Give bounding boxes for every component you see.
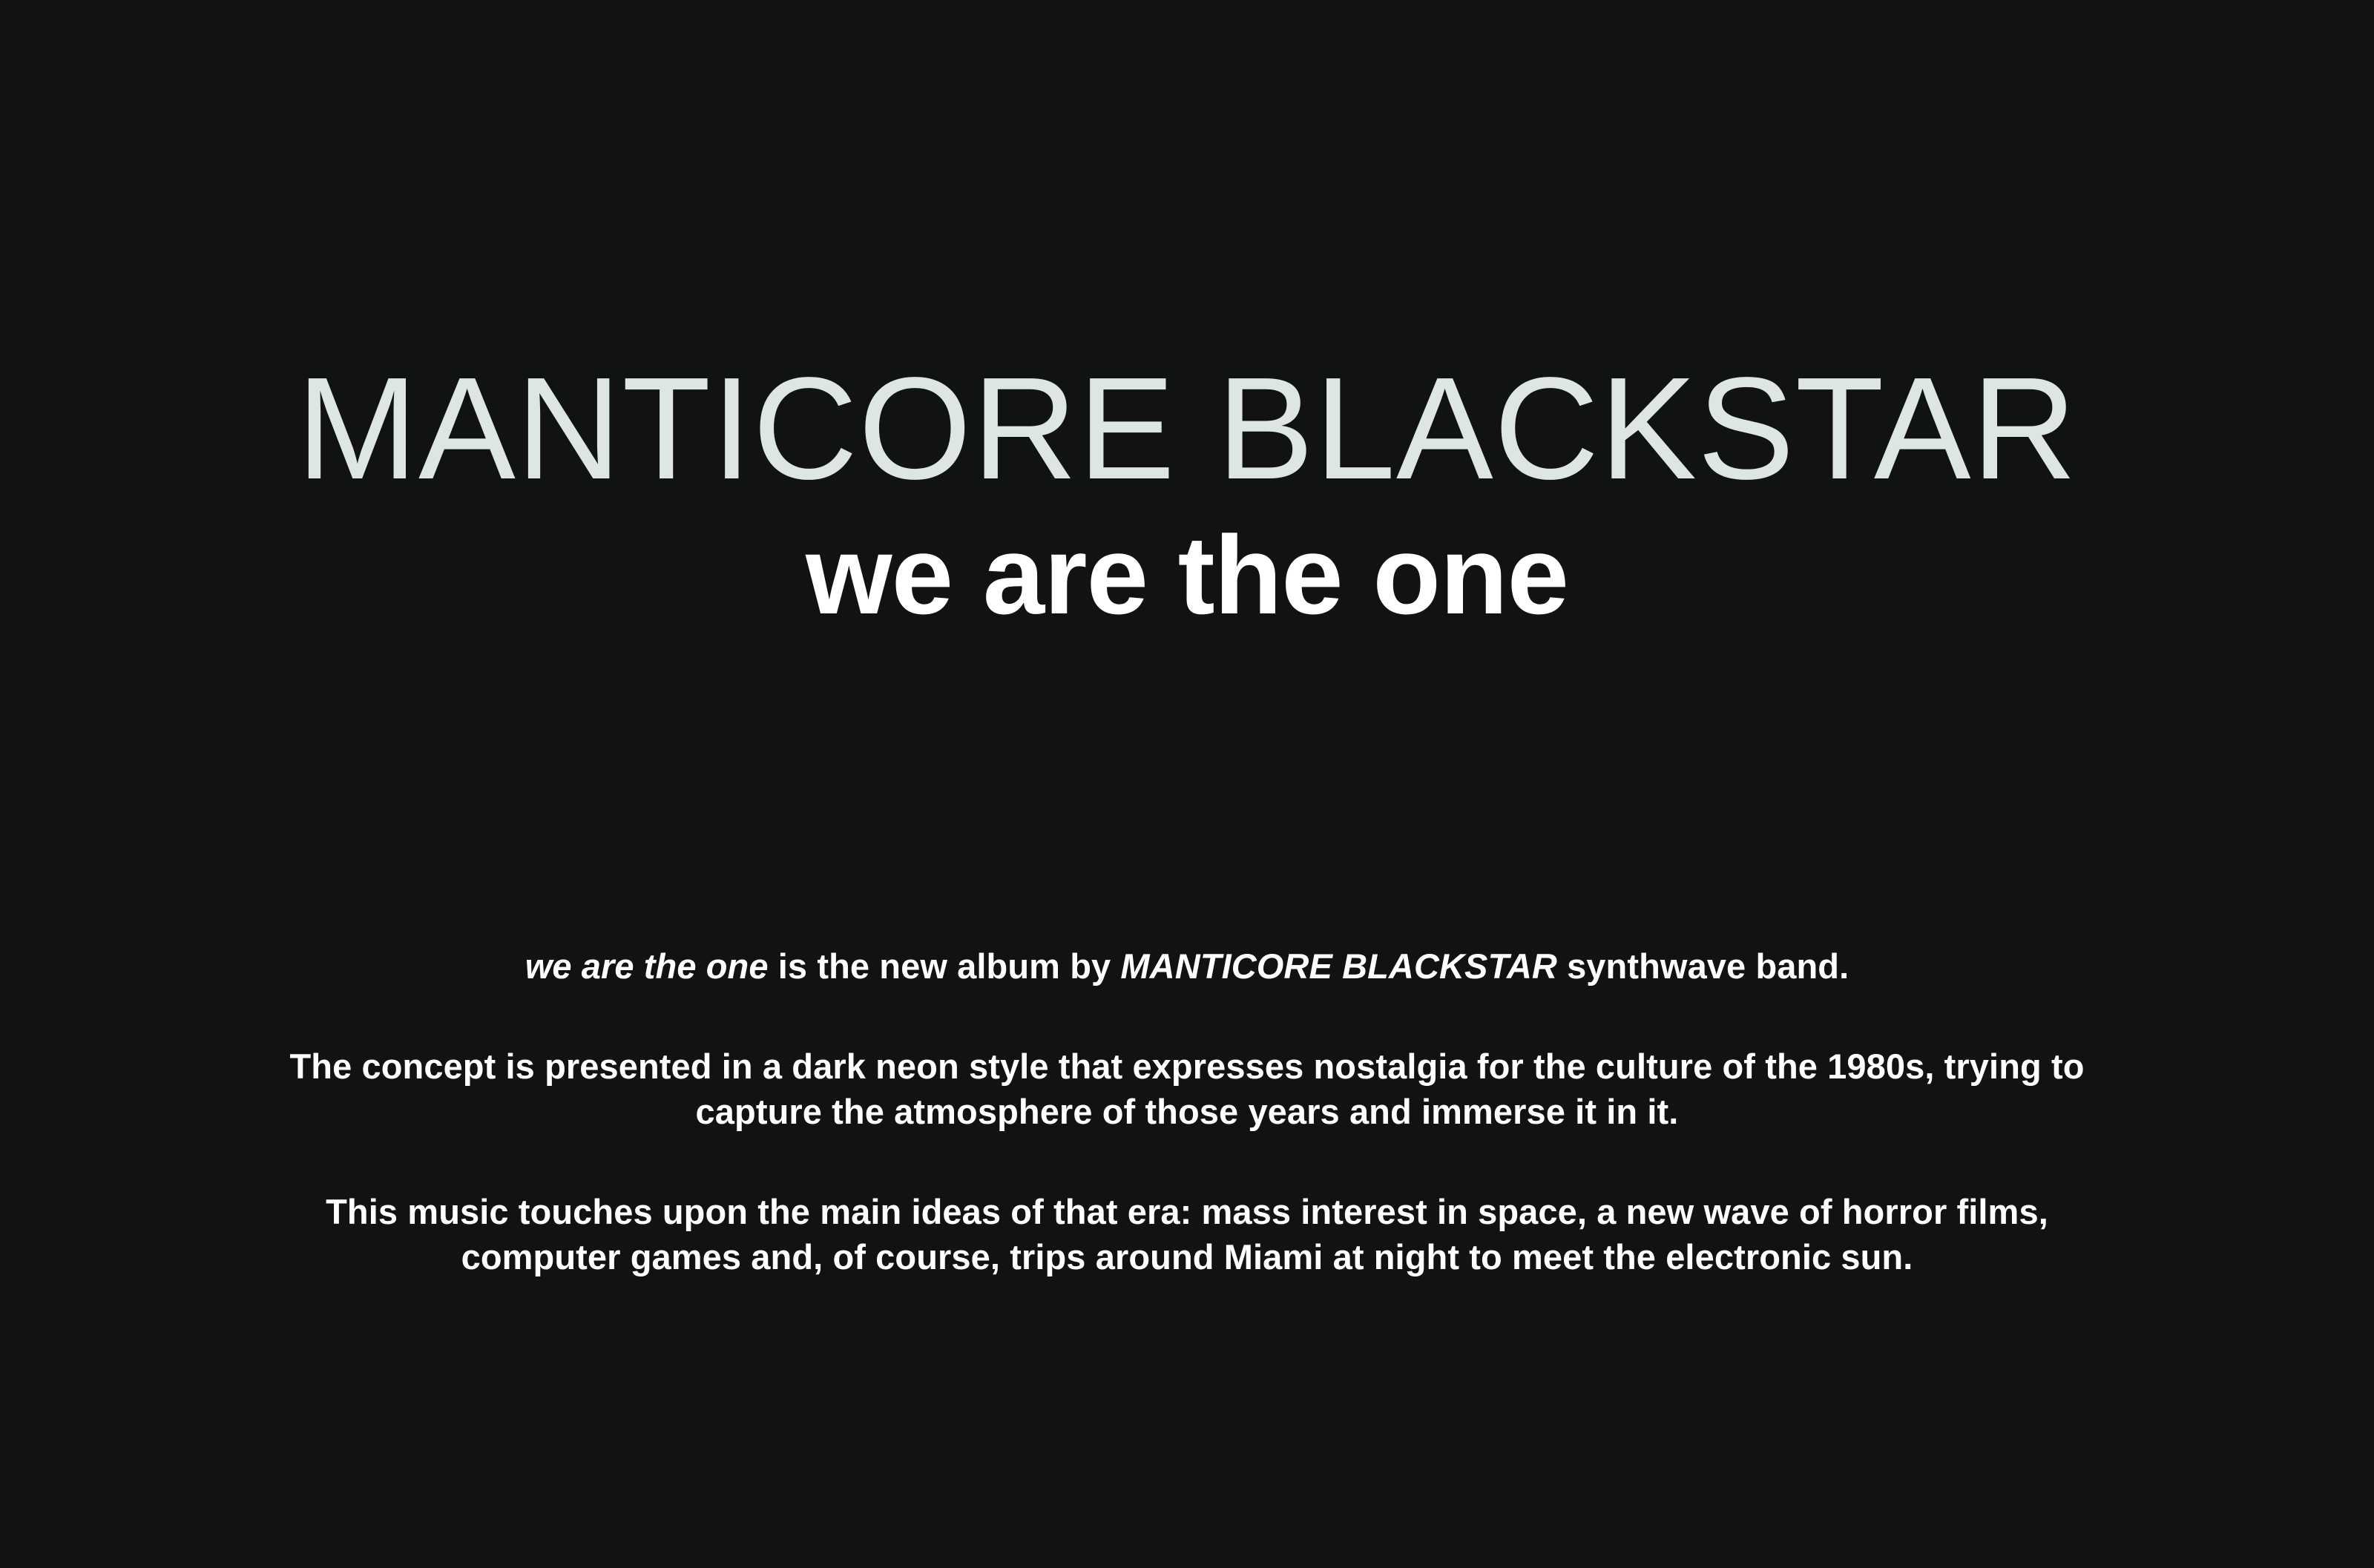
album-title-heading: we are the one bbox=[0, 519, 2374, 630]
band-name-emphasis: MANTICORE BLACKSTAR bbox=[1120, 946, 1556, 986]
description-paragraph-2: The concept is presented in a dark neon … bbox=[289, 1044, 2085, 1134]
hero-block: MANTICORE BLACKSTAR we are the one bbox=[0, 356, 2374, 630]
paragraph-1-end-text: synthwave band. bbox=[1557, 946, 1849, 986]
description-paragraph-3: This music touches upon the main ideas o… bbox=[289, 1189, 2085, 1279]
description-paragraph-1: we are the one is the new album by MANTI… bbox=[289, 943, 2085, 989]
presentation-slide: MANTICORE BLACKSTAR we are the one we ar… bbox=[0, 0, 2374, 1568]
band-name-heading: MANTICORE BLACKSTAR bbox=[0, 356, 2374, 501]
paragraph-1-mid-text: is the new album by bbox=[769, 946, 1121, 986]
description-block: we are the one is the new album by MANTI… bbox=[289, 943, 2085, 1279]
album-name-emphasis: we are the one bbox=[525, 946, 769, 986]
